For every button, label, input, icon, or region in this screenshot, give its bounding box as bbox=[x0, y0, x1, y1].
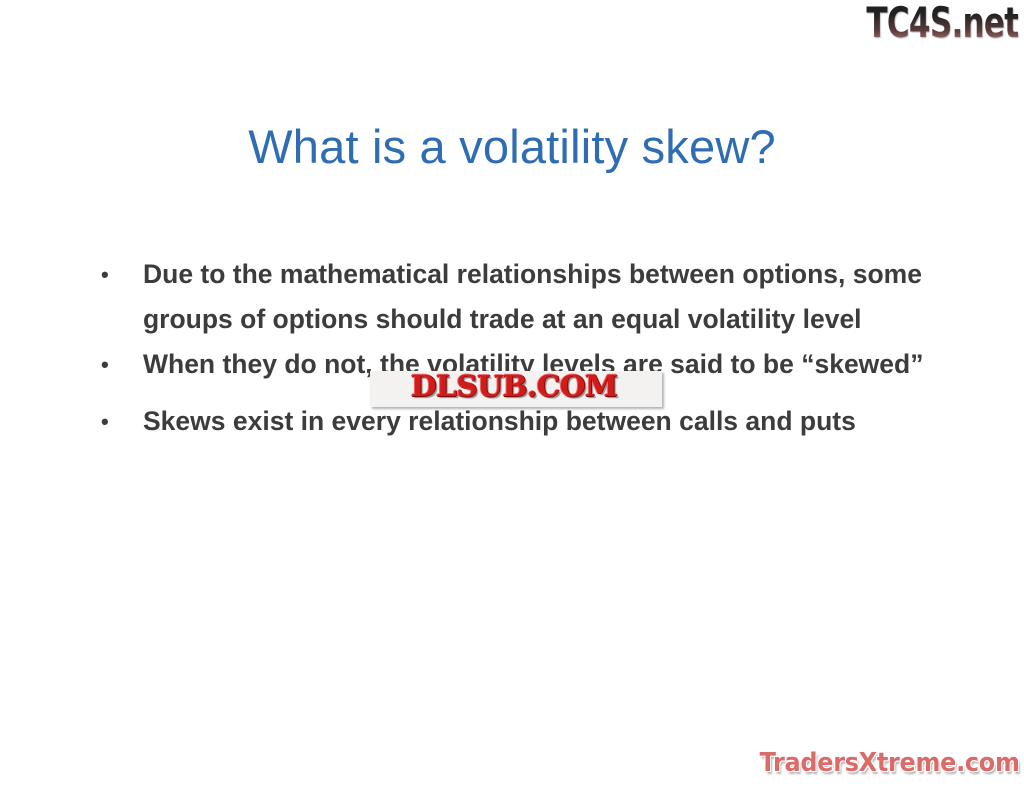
bullet-dot-icon: • bbox=[96, 399, 143, 444]
bullet-list: • Due to the mathematical relationships … bbox=[96, 252, 956, 444]
tradersxtreme-logo: TradersXtreme.com bbox=[712, 742, 1020, 784]
tc4s-logo: TC4S.net bbox=[818, 0, 1018, 52]
bullet-dot-icon: • bbox=[96, 252, 143, 297]
list-item-text: Due to the mathematical relationships be… bbox=[143, 252, 943, 342]
watermark-text: DLSUB.COM bbox=[365, 369, 663, 403]
presentation-slide: TC4S.net What is a volatility skew? • Du… bbox=[0, 0, 1024, 791]
bullet-dot-icon: • bbox=[96, 342, 143, 387]
list-item: • Due to the mathematical relationships … bbox=[96, 252, 956, 342]
tc4s-logo-text: TC4S.net bbox=[866, 0, 1018, 46]
tradersxtreme-logo-text: TradersXtreme.com bbox=[760, 747, 1020, 779]
dlsub-watermark: DLSUB.COM bbox=[368, 369, 662, 407]
page-title: What is a volatility skew? bbox=[0, 118, 1024, 176]
